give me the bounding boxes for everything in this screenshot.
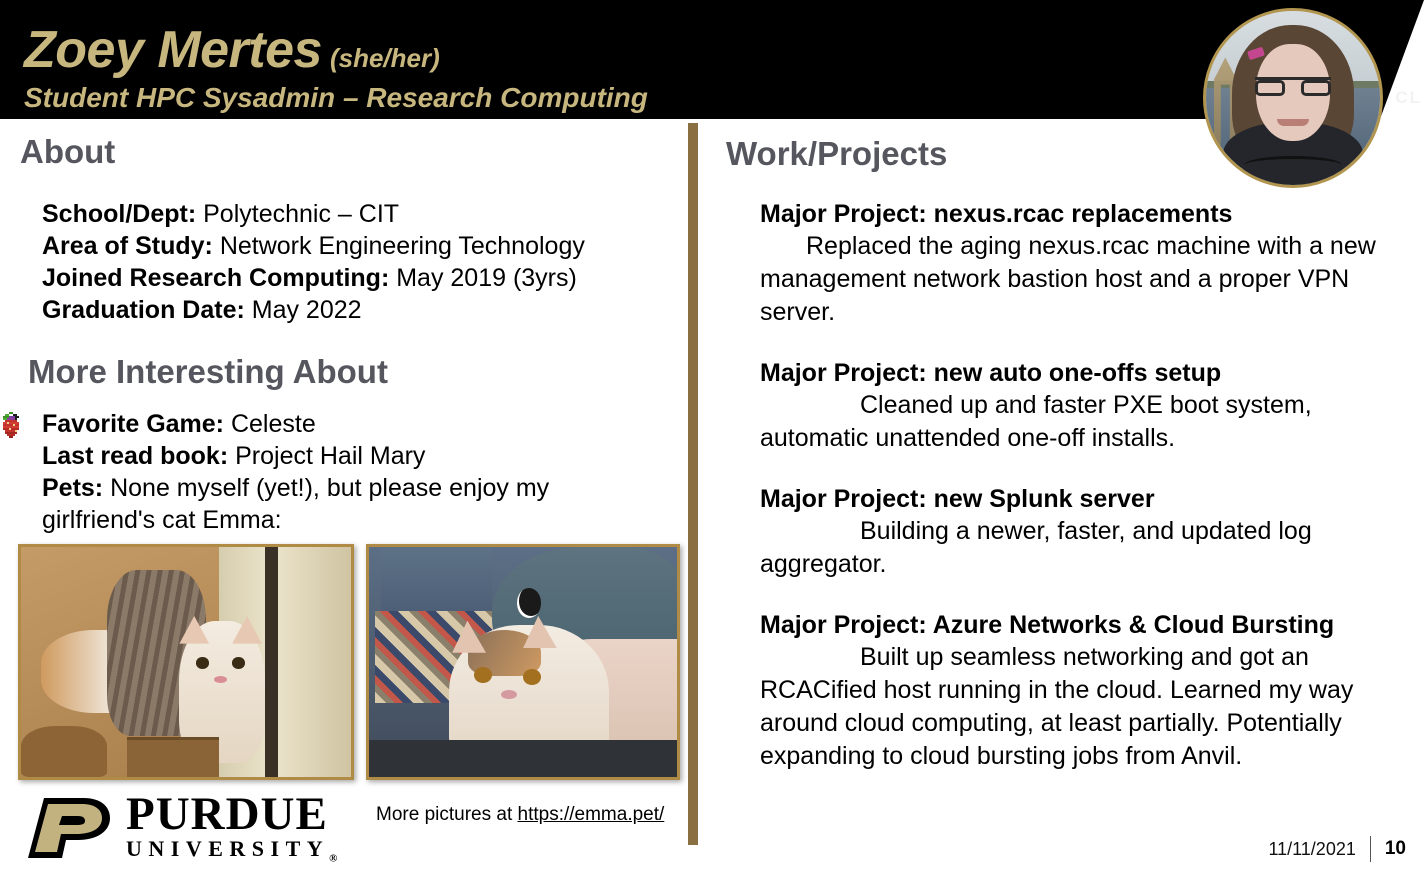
photo2-cat-nose	[501, 690, 516, 699]
header-watermark: CL	[1395, 88, 1422, 108]
about-row-graduation: Graduation Date: May 2022	[42, 294, 672, 326]
about-row-study-label: Area of Study:	[42, 232, 213, 260]
purdue-p-motion-icon	[22, 792, 118, 864]
portrait-glasses	[1255, 77, 1332, 96]
more-row-game: Favorite Game: Celeste	[42, 408, 642, 440]
purdue-wordmark: PURDUE UNIVERSITY®	[126, 792, 344, 871]
purdue-subtitle: UNIVERSITY®	[126, 836, 344, 871]
slide-canvas: CL Zoey Mertes(she/her) Student HPC Sysa…	[0, 0, 1424, 886]
about-section-heading: About	[20, 134, 115, 170]
photo1-slipper	[21, 726, 107, 777]
photo1-cat-eye-left	[196, 657, 209, 669]
project-desc-one-offs: Cleaned up and faster PXE boot system, a…	[760, 389, 1400, 455]
slide-footer: 11/11/2021 10	[1268, 836, 1406, 862]
more-row-game-label: Favorite Game:	[42, 410, 224, 438]
project-item-azure: Major Project: Azure Networks & Cloud Bu…	[760, 609, 1400, 773]
footer-date: 11/11/2021	[1268, 839, 1355, 860]
footer-page-number: 10	[1385, 838, 1406, 860]
about-row-joined-value: May 2019 (3yrs)	[396, 264, 577, 292]
photo1-wooden-box	[127, 737, 219, 777]
left-column: About School/Dept: Polytechnic – CIT Are…	[0, 124, 688, 886]
about-details-list: School/Dept: Polytechnic – CIT Area of S…	[42, 198, 672, 326]
more-interesting-section-heading: More Interesting About	[28, 354, 388, 390]
more-pictures-caption: More pictures at https://emma.pet/	[376, 804, 664, 826]
more-interesting-list: Favorite Game: Celeste Last read book: P…	[42, 408, 642, 536]
about-row-study: Area of Study: Network Engineering Techn…	[42, 230, 672, 262]
about-row-study-value: Network Engineering Technology	[220, 232, 585, 260]
more-row-book-label: Last read book:	[42, 442, 228, 470]
project-desc-azure: Built up seamless networking and got an …	[760, 641, 1400, 773]
about-row-joined-label: Joined Research Computing:	[42, 264, 389, 292]
project-desc-nexus-text: Replaced the aging nexus.rcac machine wi…	[760, 232, 1376, 326]
photo1-cat-nose	[214, 676, 227, 683]
strawberry-icon	[1, 412, 23, 442]
about-row-graduation-label: Graduation Date:	[42, 296, 245, 324]
portrait-mouth	[1277, 119, 1308, 126]
purdue-name: PURDUE	[126, 792, 344, 836]
purdue-subtitle-text: UNIVERSITY	[126, 836, 329, 861]
more-row-pets: Pets: None myself (yet!), but please enj…	[42, 472, 642, 536]
right-column: Work/Projects Major Project: nexus.rcac …	[700, 124, 1424, 886]
presenter-pronouns: (she/her)	[330, 43, 440, 73]
project-desc-one-offs-text: Cleaned up and faster PXE boot system, a…	[760, 391, 1312, 452]
presenter-name-line: Zoey Mertes(she/her)	[24, 20, 440, 80]
photo2-bedding	[369, 740, 677, 777]
project-title-nexus: Major Project: nexus.rcac replacements	[760, 198, 1400, 230]
portrait-collar	[1244, 156, 1341, 175]
more-row-book-value: Project Hail Mary	[235, 442, 425, 470]
column-divider	[688, 123, 698, 845]
photo1-door-jamb	[265, 547, 278, 777]
about-row-graduation-value: May 2022	[252, 296, 362, 324]
presenter-role: Student HPC Sysadmin – Research Computin…	[24, 82, 648, 114]
about-row-school-label: School/Dept:	[42, 200, 196, 228]
project-title-azure: Major Project: Azure Networks & Cloud Bu…	[760, 609, 1400, 641]
work-projects-list: Major Project: nexus.rcac replacements R…	[760, 198, 1400, 773]
more-pictures-prefix: More pictures at	[376, 804, 518, 825]
emma-pet-link[interactable]: https://emma.pet/	[518, 804, 665, 825]
purdue-registered-mark: ®	[329, 852, 344, 864]
project-desc-splunk: Building a newer, faster, and updated lo…	[760, 515, 1400, 581]
about-row-school: School/Dept: Polytechnic – CIT	[42, 198, 672, 230]
more-row-pets-label: Pets:	[42, 474, 103, 502]
project-desc-nexus: Replaced the aging nexus.rcac machine wi…	[760, 230, 1400, 329]
cat-photo-2	[366, 544, 680, 780]
more-row-pets-value: None myself (yet!), but please enjoy my …	[42, 474, 549, 534]
footer-separator	[1370, 836, 1371, 862]
photo2-cat-eye-left	[474, 667, 492, 683]
project-title-one-offs: Major Project: new auto one-offs setup	[760, 357, 1400, 389]
purdue-logo: PURDUE UNIVERSITY®	[22, 792, 352, 868]
project-title-splunk: Major Project: new Splunk server	[760, 483, 1400, 515]
more-row-book: Last read book: Project Hail Mary	[42, 440, 642, 472]
presenter-portrait-avatar	[1203, 8, 1383, 188]
project-desc-splunk-text: Building a newer, faster, and updated lo…	[760, 517, 1312, 578]
presenter-name: Zoey Mertes	[24, 21, 322, 79]
cat-photo-gallery	[18, 544, 680, 780]
about-row-joined: Joined Research Computing: May 2019 (3yr…	[42, 262, 672, 294]
cat-photo-1	[18, 544, 354, 780]
work-projects-section-heading: Work/Projects	[726, 136, 947, 172]
project-item-splunk: Major Project: new Splunk server Buildin…	[760, 483, 1400, 581]
project-item-one-offs: Major Project: new auto one-offs setup C…	[760, 357, 1400, 455]
project-item-nexus: Major Project: nexus.rcac replacements R…	[760, 198, 1400, 329]
about-row-school-value: Polytechnic – CIT	[203, 200, 399, 228]
more-row-game-value: Celeste	[231, 410, 316, 438]
project-desc-azure-text: Built up seamless networking and got an …	[760, 643, 1353, 770]
